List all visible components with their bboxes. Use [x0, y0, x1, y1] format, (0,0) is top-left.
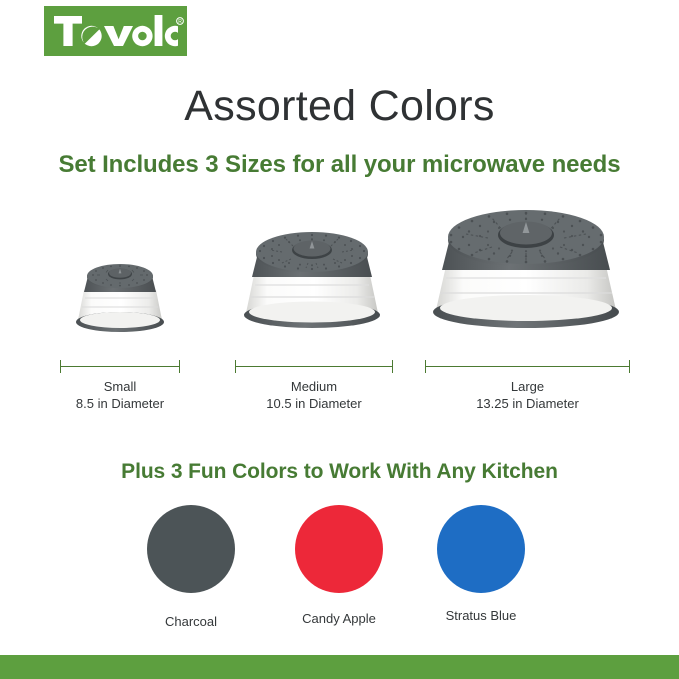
brand-wordmark: R — [54, 14, 178, 48]
swatch-dot — [437, 505, 525, 593]
bracket-cap-left — [425, 360, 426, 373]
size-label-name: Medium — [235, 378, 393, 395]
size-label-dimension: 10.5 in Diameter — [235, 395, 393, 412]
size-bracket-large — [425, 360, 630, 373]
page-title: Assorted Colors — [0, 80, 679, 132]
bracket-cap-right — [629, 360, 630, 373]
swatch-label: Charcoal — [116, 613, 266, 630]
size-group-medium: Medium 10.5 in Diameter — [235, 360, 393, 412]
bracket-rail — [425, 366, 630, 367]
bracket-cap-left — [60, 360, 61, 373]
footer-accent-bar — [0, 655, 679, 679]
product-size-comparison — [0, 190, 679, 340]
bracket-rail — [235, 366, 393, 367]
size-label-name: Small — [60, 378, 180, 395]
swatch-label: Candy Apple — [264, 610, 414, 627]
size-bracket-medium — [235, 360, 393, 373]
size-label-name: Large — [425, 378, 630, 395]
size-bracket-small — [60, 360, 180, 373]
product-image-medium — [228, 205, 396, 340]
size-group-large: Large 13.25 in Diameter — [425, 360, 630, 412]
color-swatch-candy-apple[interactable]: Candy Apple — [264, 505, 414, 627]
bracket-cap-right — [392, 360, 393, 373]
bracket-cap-left — [235, 360, 236, 373]
swatch-dot — [295, 505, 383, 593]
colors-section-title: Plus 3 Fun Colors to Work With Any Kitch… — [0, 458, 679, 486]
product-image-small — [58, 232, 182, 340]
color-swatch-charcoal[interactable]: Charcoal — [116, 505, 266, 630]
product-image-large — [418, 190, 634, 340]
brand-logo: R — [44, 6, 187, 56]
bracket-cap-right — [179, 360, 180, 373]
color-swatch-row: Charcoal Candy Apple Stratus Blue — [0, 505, 679, 640]
color-swatch-stratus-blue[interactable]: Stratus Blue — [406, 505, 556, 624]
tovolo-logotype-icon — [54, 14, 178, 48]
bracket-rail — [60, 366, 180, 367]
size-group-small: Small 8.5 in Diameter — [60, 360, 180, 412]
size-label-dimension: 8.5 in Diameter — [60, 395, 180, 412]
size-label-dimension: 13.25 in Diameter — [425, 395, 630, 412]
swatch-label: Stratus Blue — [406, 607, 556, 624]
swatch-dot — [147, 505, 235, 593]
registered-trademark-icon: R — [176, 17, 184, 25]
page-subtitle: Set Includes 3 Sizes for all your microw… — [0, 150, 679, 180]
svg-text:R: R — [178, 19, 182, 25]
